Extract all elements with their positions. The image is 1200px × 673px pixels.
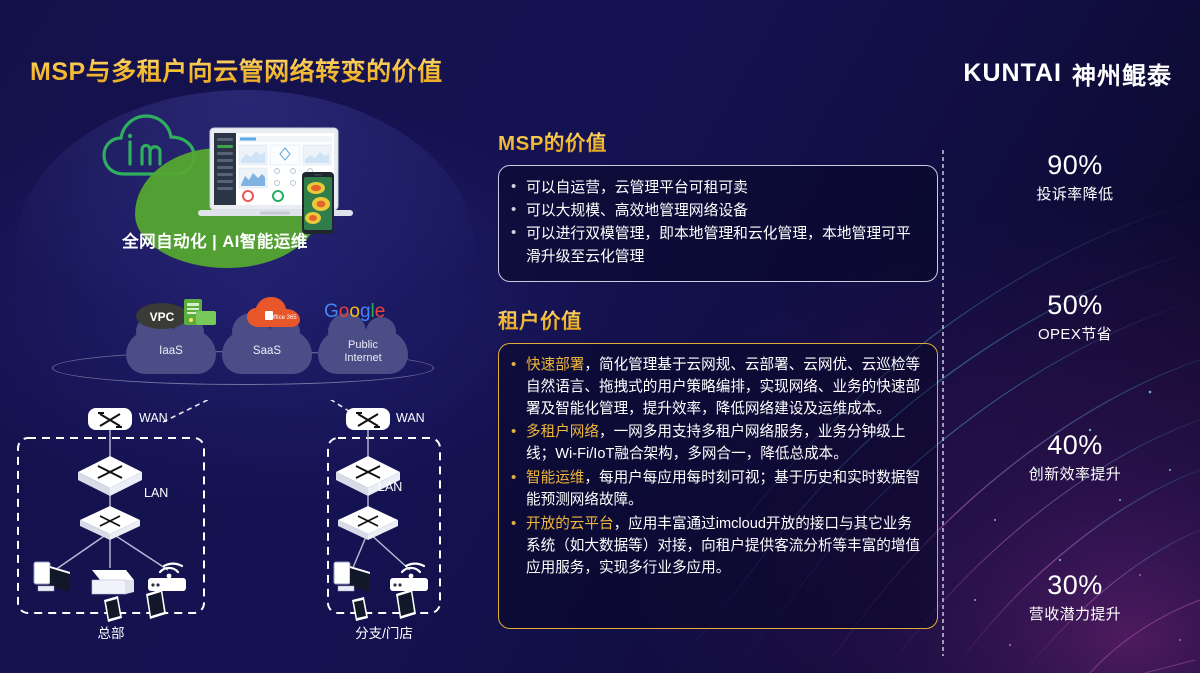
cloud-label-internet-line2: Internet (344, 352, 381, 365)
bullet-text: ，简化管理基于云网规、云部署、云网优、云巡检等自然语言、拖拽式的用户策略编排，实… (526, 357, 920, 417)
list-item: 智能运维，每用户每应用每时刻可视；基于历史和实时数据智能预测网络故障。 (509, 468, 923, 512)
stats-divider (942, 150, 944, 656)
cloud-label-internet-line1: Public (348, 339, 378, 352)
svg-text:VPC: VPC (150, 310, 175, 324)
stats-column: 90% 投诉率降低 50% OPEX节省 40% 创新效率提升 30% 营收潜力… (950, 150, 1200, 624)
list-item: 可以自运营，云管理平台可租可卖 (509, 177, 923, 199)
brand-logo: KUNTAI 神州鲲泰 (963, 56, 1172, 91)
hq-wan-label: WAN (139, 411, 168, 425)
stat-label: 营收潜力提升 (950, 603, 1200, 624)
hq-wan-router-icon (88, 408, 132, 430)
cloud-label-internet: Public Internet (318, 330, 408, 374)
bullet-text: 可以自运营，云管理平台可租可卖 (526, 180, 748, 196)
svg-text:Google: Google (324, 301, 385, 322)
list-item: 开放的云平台，应用丰富通过imcloud开放的接口与其它业务系统（如大数据等）对… (509, 514, 923, 580)
site-label-branch: 分支/门店 (328, 622, 440, 642)
site-label-hq: 总部 (18, 622, 204, 642)
stat-label: 创新效率提升 (950, 463, 1200, 484)
branch-lan-switch-icon (338, 506, 398, 540)
hq-lan-label: LAN (144, 486, 168, 500)
cloud-services-row: IaaS VPC SaaS Office 365 (0, 285, 450, 395)
stat-item: 90% 投诉率降低 (950, 150, 1200, 204)
bullet-text: 可以进行双模管理，即本地管理和云化管理，本地管理可平滑升级至云化管理 (526, 226, 911, 264)
stat-item: 40% 创新效率提升 (950, 430, 1200, 484)
bullet-text: ，每用户每应用每时刻可视；基于历史和实时数据智能预测网络故障。 (526, 470, 920, 508)
illustration-caption: 全网自动化 | AI智能运维 (0, 228, 430, 252)
hq-core-switch-icon (78, 456, 142, 496)
hq-wireless-ap-icon (148, 564, 186, 591)
branch-lan-label: LAN (378, 480, 402, 494)
bullet-keyword: 智能运维 (526, 470, 584, 486)
section-heading-msp: MSP的价值 (498, 126, 938, 156)
hq-pc-icon (34, 562, 70, 592)
stat-label: 投诉率降低 (950, 183, 1200, 204)
branch-pc-icon (334, 562, 370, 592)
stat-value: 50% (950, 290, 1200, 321)
section-msp: MSP的价值 可以自运营，云管理平台可租可卖 可以大规模、高效地管理网络设备 可… (498, 126, 938, 282)
branch-tablet-icons (352, 589, 416, 621)
svg-text:Office 365: Office 365 (269, 315, 297, 321)
cloud-item-saas: SaaS (222, 330, 312, 374)
bullet-text: 可以大规模、高效地管理网络设备 (526, 203, 748, 219)
branch-wan-label: WAN (396, 411, 425, 425)
list-item: 可以进行双模管理，即本地管理和云化管理，本地管理可平滑升级至云化管理 (509, 223, 923, 267)
bullet-keyword: 多租户网络 (526, 424, 599, 440)
stat-item: 30% 营收潜力提升 (950, 570, 1200, 624)
hq-lan-switch-icon (80, 506, 140, 540)
stat-value: 40% (950, 430, 1200, 461)
stat-value: 30% (950, 570, 1200, 601)
branch-wireless-ap-icon (390, 564, 428, 591)
list-item: 多租户网络，一网多用支持多租户网络服务，业务分钟级上线；Wi-Fi/IoT融合架… (509, 422, 923, 466)
network-topology: WAN LAN WAN LAN 总部 分支/门店 (0, 400, 470, 660)
bullet-list-tenant: 快速部署，简化管理基于云网规、云部署、云网优、云巡检等自然语言、拖拽式的用户策略… (509, 355, 923, 580)
topology-diagram-svg (0, 400, 470, 660)
value-sections-column: MSP的价值 可以自运营，云管理平台可租可卖 可以大规模、高效地管理网络设备 可… (498, 126, 938, 629)
bullet-keyword: 快速部署 (526, 357, 584, 373)
hq-printer-icon (92, 570, 134, 594)
panel-msp: 可以自运营，云管理平台可租可卖 可以大规模、高效地管理网络设备 可以进行双模管理… (498, 165, 938, 282)
phone-heatmap-illustration (302, 172, 334, 234)
cloud-item-public-internet: Public Internet (318, 330, 408, 374)
office365-cloud-badge-icon: Office 365 (243, 295, 307, 329)
cloud-label-iaas: IaaS (126, 330, 216, 374)
left-illustration: 全网自动化 | AI智能运维 IaaS VPC Sa (0, 100, 470, 660)
stat-label: OPEX节省 (950, 323, 1200, 344)
bullet-list-msp: 可以自运营，云管理平台可租可卖 可以大规模、高效地管理网络设备 可以进行双模管理… (509, 177, 923, 268)
stat-value: 90% (950, 150, 1200, 181)
stat-item: 50% OPEX节省 (950, 290, 1200, 344)
logo-chinese-text: 神州鲲泰 (1072, 56, 1172, 91)
list-item: 快速部署，简化管理基于云网规、云部署、云网优、云巡检等自然语言、拖拽式的用户策略… (509, 355, 923, 421)
panel-tenant: 快速部署，简化管理基于云网规、云部署、云网优、云巡检等自然语言、拖拽式的用户策略… (498, 343, 938, 629)
page-title: MSP与多租户向云管网络转变的价值 (30, 52, 443, 88)
bullet-keyword: 开放的云平台 (526, 516, 614, 532)
branch-wan-router-icon (346, 408, 390, 430)
cloud-item-iaas: IaaS (126, 330, 216, 374)
logo-mark-text: KUNTAI (963, 59, 1062, 88)
google-badge-icon: Google (322, 299, 404, 323)
cloud-label-saas: SaaS (222, 330, 312, 374)
section-tenant: 租户价值 快速部署，简化管理基于云网规、云部署、云网优、云巡检等自然语言、拖拽式… (498, 304, 938, 629)
slide-canvas: MSP与多租户向云管网络转变的价值 KUNTAI 神州鲲泰 (0, 0, 1200, 673)
section-heading-tenant: 租户价值 (498, 304, 938, 334)
list-item: 可以大规模、高效地管理网络设备 (509, 200, 923, 222)
